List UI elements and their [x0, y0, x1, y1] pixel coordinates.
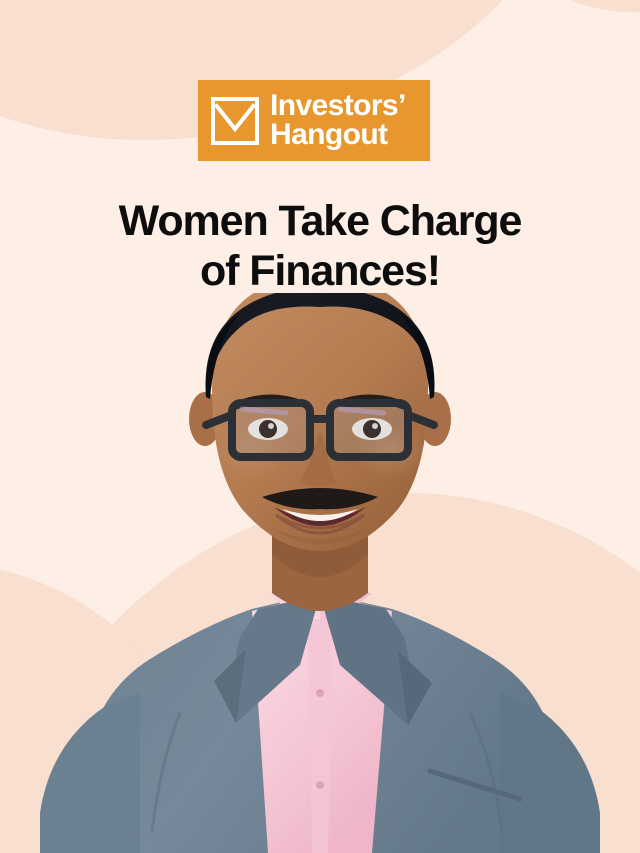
headline: Women Take Charge of Finances!: [0, 196, 640, 297]
headline-line-2: of Finances!: [0, 246, 640, 296]
promo-card: Investors’ Hangout Women Take Charge of …: [0, 0, 640, 853]
blob-top-right-shape: [528, 0, 640, 20]
envelope-icon: [210, 96, 260, 146]
portrait-photo: [0, 293, 640, 853]
brand-logo-wordmark: Investors’ Hangout: [270, 92, 406, 150]
headline-line-1: Women Take Charge: [0, 196, 640, 246]
brand-logo-line-1: Investors’: [270, 92, 406, 121]
brand-logo-line-2: Hangout: [270, 121, 406, 150]
head: [189, 293, 451, 551]
suit-jacket: [40, 589, 600, 853]
brand-logo[interactable]: Investors’ Hangout: [198, 80, 430, 161]
